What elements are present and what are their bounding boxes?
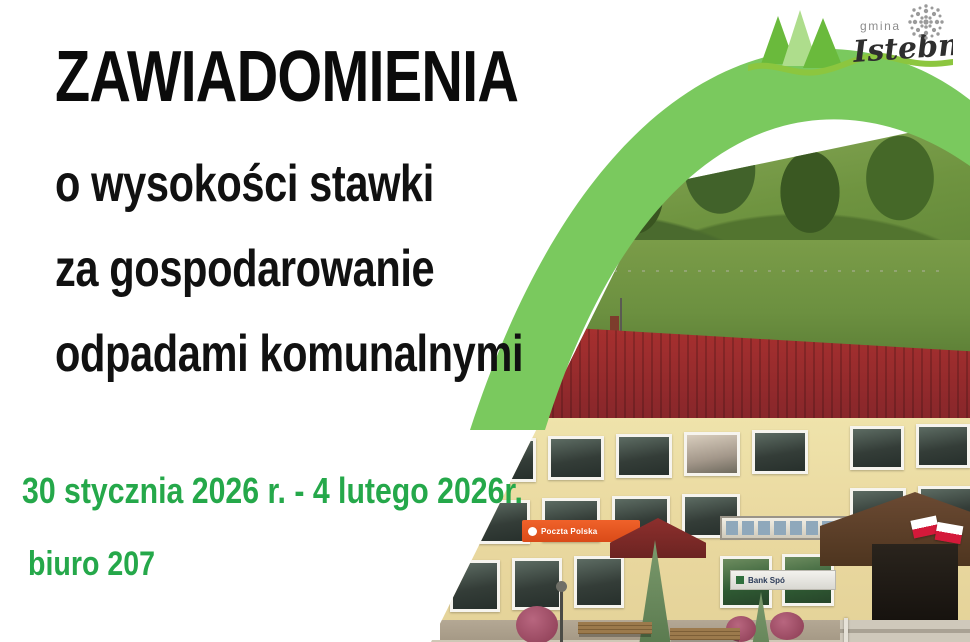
photo-window <box>548 436 604 480</box>
gmina-istebna-logo: gmina Istebna <box>748 4 953 80</box>
subtitle-line-1: o wysokości stawki <box>55 158 434 210</box>
photo-window <box>616 434 672 478</box>
bank-sign: Bank Spó <box>730 570 836 590</box>
bank-sign-label: Bank Spó <box>748 576 785 585</box>
subtitle-line-3: odpadami komunalnymi <box>55 328 523 380</box>
photo-window <box>752 430 808 474</box>
subtitle-line-2: za gospodarowanie <box>55 243 434 295</box>
office-number-text: biuro 207 <box>28 547 155 581</box>
photo-window <box>512 558 562 610</box>
photo-lamp-post <box>560 590 563 642</box>
photo-flower-bush <box>770 612 804 640</box>
photo-main-door <box>872 544 958 622</box>
post-office-sign-label: Poczta Polska <box>541 527 597 536</box>
bank-mark-icon <box>736 576 744 584</box>
rosette-icon <box>908 4 943 39</box>
date-range-text: 30 stycznia 2026 r. - 4 lutego 2026r. <box>22 473 523 509</box>
logo-trees-icon <box>761 10 843 68</box>
poster-canvas: Poczta Polska Bank Spó P <box>0 0 970 642</box>
photo-bench <box>578 622 652 634</box>
photo-bench <box>670 628 740 640</box>
photo-flower-bush <box>516 606 558 642</box>
photo-window <box>684 432 740 476</box>
photo-window <box>450 560 500 612</box>
photo-entrance-stairs <box>840 620 970 642</box>
page-title: ZAWIADOMIENIA <box>55 44 518 110</box>
photo-window <box>574 556 624 608</box>
photo-window <box>850 426 904 470</box>
photo-fence <box>460 270 940 272</box>
logo-small-text: gmina <box>860 19 901 33</box>
post-horn-icon <box>528 527 537 536</box>
photo-stair-handrail <box>844 618 848 642</box>
photo-antenna <box>620 298 622 332</box>
photo-window <box>916 424 970 468</box>
